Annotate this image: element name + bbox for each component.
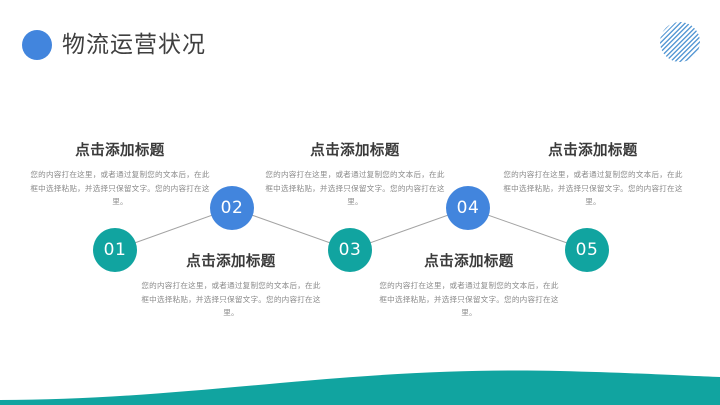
block-body: 您的内容打在这里，或者通过复制您的文本后，在此框中选择粘贴，并选择只保留文字。您… [262,168,448,209]
content-block-2[interactable]: 点击添加标题 您的内容打在这里，或者通过复制您的文本后，在此框中选择粘贴，并选择… [138,252,324,320]
node-number-label: 01 [104,240,127,260]
block-body: 您的内容打在这里，或者通过复制您的文本后，在此框中选择粘贴，并选择只保留文字。您… [27,168,213,209]
node-number-label: 03 [339,240,362,260]
page-title: 物流运营状况 [62,29,206,61]
header-dot-icon [22,30,52,60]
node-circle-03[interactable]: 03 [328,228,372,272]
slide-canvas: 物流运营状况 01 02 03 04 05 点击添加标题 您的内容打在这里，或者… [0,0,720,405]
node-circle-05[interactable]: 05 [565,228,609,272]
content-block-5[interactable]: 点击添加标题 您的内容打在这里，或者通过复制您的文本后，在此框中选择粘贴，并选择… [500,141,686,209]
block-body: 您的内容打在这里，或者通过复制您的文本后，在此框中选择粘贴，并选择只保留文字。您… [500,168,686,209]
node-number-label: 04 [457,198,480,218]
striped-circle-icon [660,22,700,62]
content-block-1[interactable]: 点击添加标题 您的内容打在这里，或者通过复制您的文本后，在此框中选择粘贴，并选择… [27,141,213,209]
node-circle-04[interactable]: 04 [446,186,490,230]
block-body: 您的内容打在这里，或者通过复制您的文本后，在此框中选择粘贴，并选择只保留文字。您… [138,279,324,320]
node-circle-01[interactable]: 01 [93,228,137,272]
wave-decoration [0,345,720,405]
block-body: 您的内容打在这里，或者通过复制您的文本后，在此框中选择粘贴，并选择只保留文字。您… [376,279,562,320]
node-circle-02[interactable]: 02 [210,186,254,230]
block-title: 点击添加标题 [27,141,213,161]
node-number-label: 05 [576,240,599,260]
block-title: 点击添加标题 [500,141,686,161]
block-title: 点击添加标题 [138,252,324,272]
node-number-label: 02 [221,198,244,218]
content-block-3[interactable]: 点击添加标题 您的内容打在这里，或者通过复制您的文本后，在此框中选择粘贴，并选择… [262,141,448,209]
block-title: 点击添加标题 [376,252,562,272]
content-block-4[interactable]: 点击添加标题 您的内容打在这里，或者通过复制您的文本后，在此框中选择粘贴，并选择… [376,252,562,320]
block-title: 点击添加标题 [262,141,448,161]
